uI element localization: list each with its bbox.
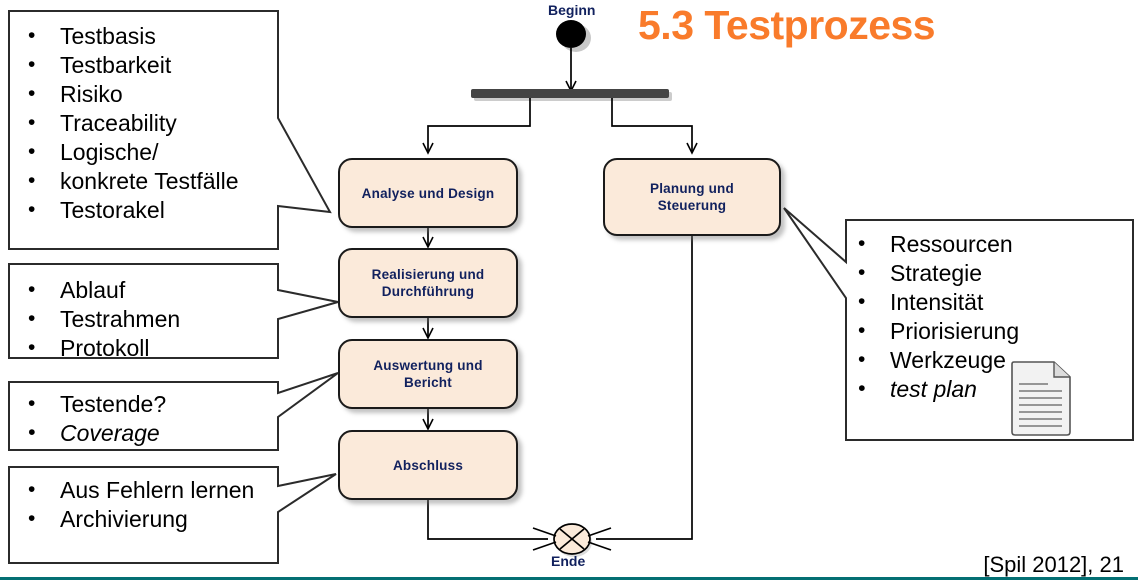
list-item: Logische/: [14, 138, 239, 167]
callout-list: Testbasis Testbarkeit Risiko Traceabilit…: [14, 22, 239, 225]
list-item: Coverage: [14, 419, 166, 448]
callout-list: Ablauf Testrahmen Protokoll: [14, 276, 180, 363]
list-item: Aus Fehlern lernen: [14, 476, 254, 505]
activity-label: Auswertung und Bericht: [373, 357, 482, 391]
end-node: [554, 524, 590, 554]
list-item: Ressourcen: [844, 230, 1019, 259]
page-title: 5.3 Testprozess: [638, 2, 935, 49]
list-item: Strategie: [844, 259, 1019, 288]
callout-planung: Ressourcen Strategie Intensität Priorisi…: [782, 214, 1134, 442]
callout-abschluss: Aus Fehlern lernen Archivierung: [8, 466, 348, 564]
callout-auswertung: Testende? Coverage: [8, 381, 348, 451]
list-item: Archivierung: [14, 505, 254, 534]
fork-bar: [471, 89, 669, 98]
document-icon: [1008, 360, 1074, 438]
activity-label: Abschluss: [393, 457, 463, 474]
start-node-label: Beginn: [548, 2, 595, 18]
activity-node-planung-und-steuerung[interactable]: Planung und Steuerung: [603, 158, 781, 236]
list-item: test plan: [844, 375, 1019, 404]
callout-analyse-design: Testbasis Testbarkeit Risiko Traceabilit…: [8, 10, 348, 250]
footer-reference: [Spil 2012], 21: [983, 552, 1124, 578]
list-item: Ablauf: [14, 276, 180, 305]
end-node-label: Ende: [551, 553, 585, 569]
list-item: Traceability: [14, 109, 239, 138]
activity-node-abschluss[interactable]: Abschluss: [338, 430, 518, 500]
callout-realisierung: Ablauf Testrahmen Protokoll: [8, 263, 348, 359]
callout-list: Testende? Coverage: [14, 390, 166, 448]
start-node: [556, 20, 586, 48]
list-item: Testrahmen: [14, 305, 180, 334]
list-item: Testorakel: [14, 196, 239, 225]
list-item: Werkzeuge: [844, 346, 1019, 375]
list-item-continuation: konkrete Testfälle: [14, 167, 239, 196]
callout-list: Aus Fehlern lernen Archivierung: [14, 476, 254, 534]
footer-divider: [0, 577, 1138, 580]
list-item: Protokoll: [14, 334, 180, 363]
callout-list: Ressourcen Strategie Intensität Priorisi…: [844, 230, 1019, 404]
activity-label: Analyse und Design: [362, 185, 495, 202]
activity-node-realisierung-und-durchfuehrung[interactable]: Realisierung und Durchführung: [338, 248, 518, 318]
activity-label: Realisierung und Durchführung: [372, 266, 485, 300]
list-item: Testende?: [14, 390, 166, 419]
list-item: Risiko: [14, 80, 239, 109]
list-item: Intensität: [844, 288, 1019, 317]
list-item: Testbasis: [14, 22, 239, 51]
activity-node-auswertung-und-bericht[interactable]: Auswertung und Bericht: [338, 339, 518, 409]
activity-label: Planung und Steuerung: [650, 180, 734, 214]
list-item: Priorisierung: [844, 317, 1019, 346]
slide-canvas: 5.3 Testprozess Beginn Ende Analyse und …: [0, 0, 1138, 586]
activity-node-analyse-und-design[interactable]: Analyse und Design: [338, 158, 518, 228]
list-item: Testbarkeit: [14, 51, 239, 80]
